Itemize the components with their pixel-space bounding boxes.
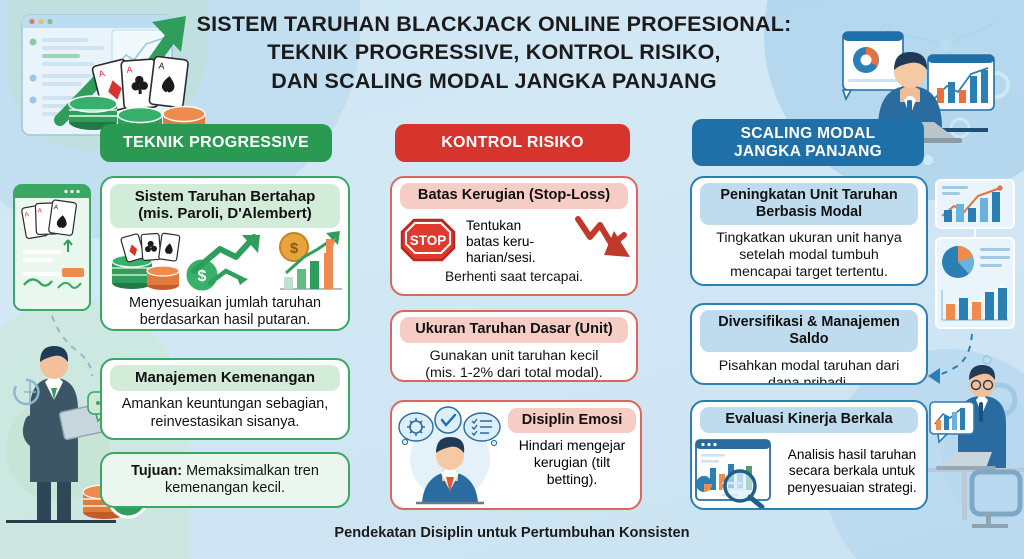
infographic-canvas: A A A [0,0,1024,559]
svg-text:A: A [126,64,133,74]
card-r3-body-line-3: betting). [547,471,598,487]
card-b2-body-line-2: dana pribadi. [768,375,850,385]
stop-sign-icon: STOP [392,211,464,273]
svg-text:A: A [98,68,106,79]
card-r3-body-line-2: kerugian (tilt [534,454,610,470]
card-g2-body-line-2: reinvestasikan sisanya. [151,414,300,430]
card-r1-body-line-2: batas keru- [466,234,534,249]
card-g2-body: Amankan keuntungan sebagian, reinvestasi… [102,396,348,431]
card-batas-kerugian[interactable]: Batas Kerugian (Stop-Loss) STOP Tentukan… [390,176,638,296]
left-dashed-connector [52,316,92,376]
card-r1-content: STOP Tentukan batas keru- harian/sesi. [392,211,636,273]
cards-chips-dollar-growth-icon: $ $ [102,229,348,293]
card-g1-title: Sistem Taruhan Bertahap (mis. Paroli, D'… [110,184,340,228]
card-r2-body-line-1: Gunakan unit taruhan kecil [430,348,599,364]
svg-text:A: A [53,204,59,212]
card-g3-body-line-2: kemenangan kecil. [165,480,285,496]
card-b2-title: Diversifikasi & Manajemen Saldo [700,310,918,352]
column-header-progressive[interactable]: TEKNIK PROGRESSIVE [100,124,332,162]
card-r3-title: Disiplin Emosi [508,408,636,433]
card-g3-body: Tujuan: Memaksimalkan tren kemenangan ke… [123,463,327,498]
card-g2-body-line-1: Amankan keuntungan sebagian, [122,396,328,412]
card-b1-body-line-3: mencapai target tertentu. [730,264,888,280]
right-pie-bar-panel-icon [936,238,1014,328]
right-dashed-connector [932,334,972,376]
card-g1-body-line-1: Menyesuaikan jumlah taruhan [129,295,321,311]
seated-man-desk-illustration [924,365,1024,526]
card-r2-title: Ukuran Taruhan Dasar (Unit) [400,317,628,343]
card-b1-body-line-2: setelah modal tumbuh [739,247,879,263]
person-thought-bubbles-icon [392,403,504,507]
card-g1-title-line-2: (mis. Paroli, D'Alembert) [138,205,312,222]
card-peningkatan-unit[interactable]: Peningkatan Unit Taruhan Berbasis Modal … [690,176,928,286]
card-b3-body: Analisis hasil taruhan secara berkala un… [778,447,926,497]
card-b2-body: Pisahkan modal taruhan dari dana pribadi… [692,358,926,385]
card-r3-content: Disiplin Emosi Hindari mengejar kerugian… [392,402,640,508]
card-diversifikasi-saldo[interactable]: Diversifikasi & Manajemen Saldo Pisahkan… [690,303,928,385]
svg-text:A: A [158,61,165,72]
card-b3-body-line-1: Analisis hasil taruhan [788,447,916,462]
card-g3-label: Tujuan: [131,463,182,479]
card-r2-body: Gunakan unit taruhan kecil (mis. 1-2% da… [392,348,636,382]
card-r3-body: Hindari mengejar kerugian (tilt betting)… [504,437,640,487]
page-title-line-2: TEKNIK PROGRESSIVE, KONTROL RISIKO, [180,38,808,66]
card-b1-title-line-1: Peningkatan Unit Taruhan [720,187,897,203]
check-thought-bubble-icon [435,407,461,433]
browser-window-illustration [22,15,172,135]
right-line-chart-panel-icon [936,180,1014,228]
card-b2-body-line-1: Pisahkan modal taruhan dari [719,358,900,374]
card-r1-body-line-1: Tentukan [466,218,521,233]
card-g2-title: Manajemen Kemenangan [110,365,340,391]
scaling-header-line-1: SCALING MODAL [741,125,876,142]
declining-arrow-icon [574,211,636,273]
card-ukuran-taruhan-dasar[interactable]: Ukuran Taruhan Dasar (Unit) Gunakan unit… [390,310,638,382]
card-b1-title-line-2: Berbasis Modal [756,204,862,220]
donut-chart-popup-icon [843,32,903,99]
card-r1-title: Batas Kerugian (Stop-Loss) [400,183,628,209]
card-b1-body: Tingkatkan ukuran unit hanya setelah mod… [692,230,926,281]
card-b3-body-line-2: secara berkala untuk [789,463,915,478]
card-b2-title-line-1: Diversifikasi & Manajemen [718,314,900,330]
footer-tagline: Pendekatan Disiplin untuk Pertumbuhan Ko… [0,525,1024,541]
left-card-panel-illustration: A A A [14,120,90,310]
card-g1-body: Menyesuaikan jumlah taruhan berdasarkan … [102,295,348,330]
page-title: SISTEM TARUHAN BLACKJACK ONLINE PROFESIO… [180,10,808,95]
card-tujuan[interactable]: Tujuan: Memaksimalkan tren kemenangan ke… [100,452,350,508]
column-header-risiko[interactable]: KONTROL RISIKO [395,124,630,162]
card-sistem-taruhan-bertahap[interactable]: Sistem Taruhan Bertahap (mis. Paroli, D'… [100,176,350,331]
card-b2-title-line-2: Saldo [789,331,828,347]
green-uptrend-arrow-icon [60,16,186,120]
page-title-line-3: DAN SCALING MODAL JANGKA PANJANG [180,67,808,95]
card-g3-body-line-1: Memaksimalkan tren [186,463,319,479]
card-b3-body-line-3: penyesuaian strategi. [787,480,916,495]
page-title-line-1: SISTEM TARUHAN BLACKJACK ONLINE PROFESIO… [180,10,808,38]
card-b3-title: Evaluasi Kinerja Berkala [700,407,918,433]
svg-text:A: A [37,207,42,214]
svg-text:A: A [24,211,30,219]
dashboard-magnifier-icon [692,436,778,508]
card-g1-title-line-1: Sistem Taruhan Bertahap [135,188,316,205]
card-r1-body-line-3: harian/sesi. [466,250,536,265]
playing-cards-icon: A A A [92,56,189,113]
card-g1-body-line-2: berdasarkan hasil putaran. [140,312,310,328]
stop-sign-label: STOP [410,233,447,248]
card-manajemen-kemenangan[interactable]: Manajemen Kemenangan Amankan keuntungan … [100,358,350,440]
bar-chart-popup-icon [928,55,994,110]
card-b1-title: Peningkatan Unit Taruhan Berbasis Modal [700,183,918,225]
card-r3-right: Disiplin Emosi Hindari mengejar kerugian… [504,422,640,487]
card-r1-body: Tentukan batas keru- harian/sesi. [464,218,574,266]
card-b1-body-line-1: Tingkatkan ukuran unit hanya [716,230,902,246]
card-r2-body-line-2: (mis. 1-2% dari total modal). [425,365,602,381]
card-b3-content: Analisis hasil taruhan secara berkala un… [692,436,926,508]
column-header-risiko-label: KONTROL RISIKO [441,134,584,152]
card-evaluasi-kinerja[interactable]: Evaluasi Kinerja Berkala [690,400,928,510]
column-header-scaling-label: SCALING MODAL JANGKA PANJANG [734,125,882,161]
svg-text:$: $ [290,240,299,257]
card-disiplin-emosi[interactable]: Disiplin Emosi Hindari mengejar kerugian… [390,400,642,510]
scaling-header-line-2: JANGKA PANJANG [734,143,882,160]
card-r3-body-line-1: Hindari mengejar [519,437,626,453]
column-header-progressive-label: TEKNIK PROGRESSIVE [123,134,309,152]
column-header-scaling[interactable]: SCALING MODAL JANGKA PANJANG [692,119,924,166]
